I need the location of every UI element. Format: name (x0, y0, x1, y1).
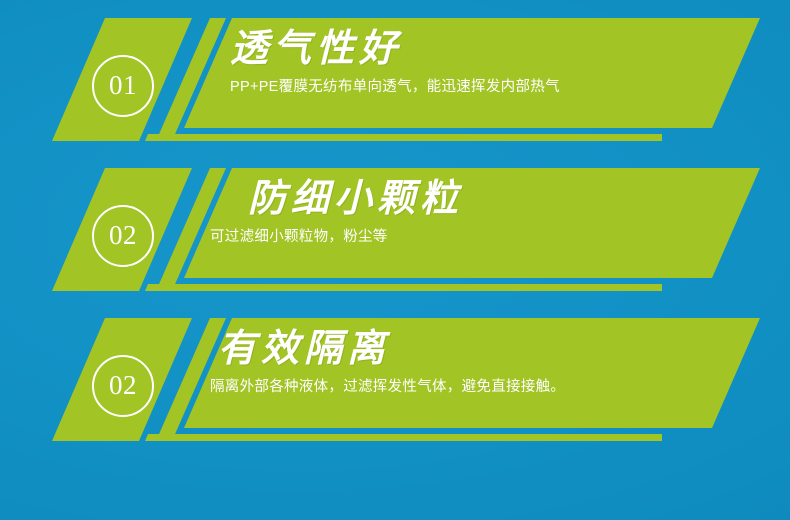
feature-number: 02 (109, 372, 137, 399)
feature-block: 02 防细小颗粒 可过滤细小颗粒物，粉尘等 (0, 158, 790, 308)
underline-bar (145, 434, 662, 441)
feature-description: 可过滤细小颗粒物，粉尘等 (210, 228, 768, 247)
underline-bar (145, 284, 662, 291)
feature-description: 隔离外部各种液体，过滤挥发性气体，避免直接接触。 (210, 378, 738, 397)
feature-number: 02 (109, 222, 137, 249)
feature-number-badge: 01 (92, 55, 154, 117)
feature-block: 01 透气性好 PP+PE覆膜无纺布单向透气，能迅速挥发内部热气 (0, 8, 790, 158)
feature-banner-panel: 01 透气性好 PP+PE覆膜无纺布单向透气，能迅速挥发内部热气 02 防细小颗… (0, 0, 790, 520)
feature-text-area: 防细小颗粒 可过滤细小颗粒物，粉尘等 (248, 178, 768, 247)
feature-title: 透气性好 (230, 28, 750, 72)
feature-number: 01 (109, 72, 137, 99)
feature-text-area: 透气性好 PP+PE覆膜无纺布单向透气，能迅速挥发内部热气 (230, 28, 750, 97)
feature-text-area: 有效隔离 隔离外部各种液体，过滤挥发性气体，避免直接接触。 (218, 328, 738, 397)
feature-title: 防细小颗粒 (248, 178, 768, 222)
feature-number-badge: 02 (92, 205, 154, 267)
feature-title: 有效隔离 (218, 328, 738, 372)
feature-number-badge: 02 (92, 355, 154, 417)
feature-description: PP+PE覆膜无纺布单向透气，能迅速挥发内部热气 (230, 78, 750, 97)
feature-block: 02 有效隔离 隔离外部各种液体，过滤挥发性气体，避免直接接触。 (0, 308, 790, 458)
underline-bar (145, 134, 662, 141)
